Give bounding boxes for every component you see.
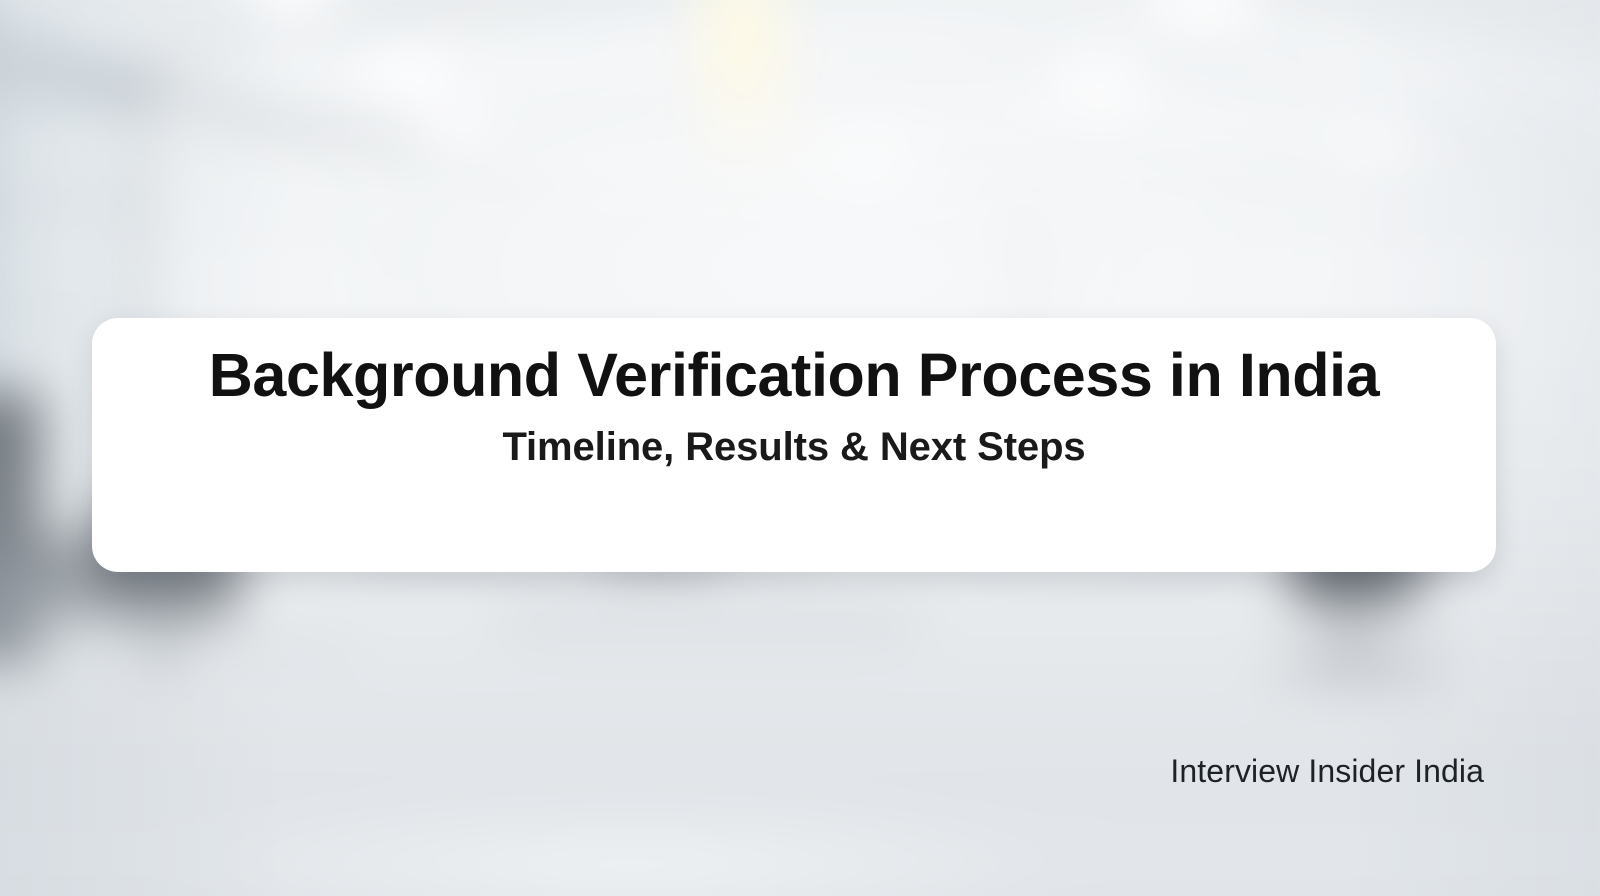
pendant-light-stem [786, 90, 812, 210]
page-title: Background Verification Process in India [209, 340, 1379, 411]
attribution-label: Interview Insider India [1170, 752, 1484, 790]
page-subtitle: Timeline, Results & Next Steps [502, 423, 1085, 471]
title-card: Background Verification Process in India… [92, 318, 1496, 572]
ceiling-light [1048, 50, 1150, 112]
ceiling-light [800, 118, 930, 198]
office-chair-stem [156, 602, 172, 672]
office-chair [0, 392, 40, 662]
office-chair-base [1270, 652, 1450, 678]
floor-reflection [180, 806, 1080, 896]
ceiling-light [352, 40, 462, 106]
office-desk [90, 640, 350, 666]
pendant-light-glow [700, 0, 784, 190]
slide-canvas: Background Verification Process in India… [0, 0, 1600, 896]
office-desk [500, 608, 920, 642]
ceiling-light [1338, 116, 1422, 168]
